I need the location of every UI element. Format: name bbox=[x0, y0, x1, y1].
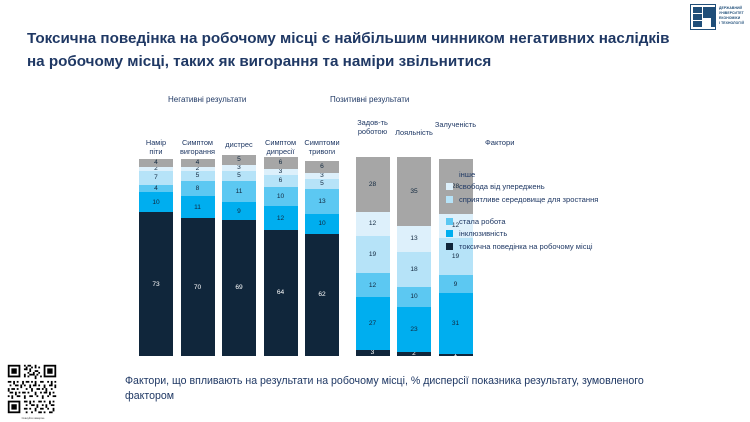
bar-segment-4[interactable]: 13 bbox=[305, 189, 339, 215]
bar-segment-6[interactable]: 69 bbox=[222, 220, 256, 356]
bar-segment-4[interactable]: 11 bbox=[222, 181, 256, 203]
qr-caption: Скануйте камерою bbox=[5, 417, 61, 420]
bar-segment-1[interactable]: 35 bbox=[397, 157, 431, 226]
bar-segment-5[interactable]: 10 bbox=[305, 214, 339, 234]
bar-segment-4[interactable]: 8 bbox=[181, 181, 215, 197]
bar-segment-6[interactable]: 2 bbox=[397, 352, 431, 356]
chart-column-1: 42741073 bbox=[139, 159, 173, 356]
bar-segment-3[interactable]: 6 bbox=[264, 175, 298, 187]
stacked-bar[interactable]: 636101264 bbox=[264, 157, 298, 356]
qr-code-block[interactable]: Скануйте камерою bbox=[5, 362, 61, 420]
bar-segment-6[interactable]: 73 bbox=[139, 212, 173, 356]
bar-segment-1[interactable]: 5 bbox=[222, 155, 256, 165]
category-label-4: Симптомдипресії bbox=[265, 138, 296, 157]
category-label-1: Намірпіти bbox=[146, 138, 166, 157]
qr-code-icon[interactable] bbox=[5, 362, 59, 416]
chart-column-5: 635131062 bbox=[305, 161, 339, 356]
chart-column-6: 28121912273 bbox=[356, 157, 390, 356]
legend-swatch-icon bbox=[446, 230, 453, 237]
legend-label: токсична поведінка на робочому місці bbox=[459, 242, 593, 251]
chart-legend: іншесвобода від упередженьсприятливе сер… bbox=[446, 168, 598, 253]
bar-segment-1[interactable]: 4 bbox=[181, 159, 215, 167]
stacked-bar[interactable]: 53511969 bbox=[222, 155, 256, 356]
chart-column-7: 35131810232 bbox=[397, 157, 431, 356]
stacked-bar[interactable]: 28121912273 bbox=[356, 157, 390, 356]
legend-label: стала робота bbox=[459, 217, 506, 226]
bar-segment-4[interactable]: 10 bbox=[264, 187, 298, 207]
bar-segment-6[interactable]: 70 bbox=[181, 218, 215, 356]
bar-segment-6[interactable]: 62 bbox=[305, 234, 339, 356]
category-label-2: Симптомвигорання bbox=[180, 138, 215, 157]
legend-item-4[interactable]: стала робота bbox=[446, 215, 598, 228]
chart-caption: Фактори, що впливають на результати на р… bbox=[125, 374, 645, 405]
stacked-bar-chart: 42741073Намірпіти42581170Симптомвигоранн… bbox=[0, 0, 750, 422]
bar-segment-3[interactable]: 18 bbox=[397, 252, 431, 287]
stacked-bar[interactable]: 42741073 bbox=[139, 159, 173, 356]
category-label-3: дистрес bbox=[225, 140, 252, 149]
stacked-bar[interactable]: 35131810232 bbox=[397, 157, 431, 356]
bar-segment-3[interactable]: 5 bbox=[181, 171, 215, 181]
legend-item-1[interactable]: інше bbox=[446, 168, 598, 181]
bar-segment-5[interactable]: 9 bbox=[222, 202, 256, 220]
bar-segment-6[interactable]: 3 bbox=[356, 350, 390, 356]
bar-segment-5[interactable]: 23 bbox=[397, 307, 431, 352]
legend-label: інклюзивність bbox=[459, 229, 507, 238]
bar-segment-4[interactable]: 12 bbox=[356, 273, 390, 297]
legend-swatch-icon bbox=[446, 196, 453, 203]
legend-item-6[interactable]: токсична поведінка на робочому місці bbox=[446, 240, 598, 253]
legend-item-3[interactable]: сприятливе середовище для зростання bbox=[446, 193, 598, 206]
bar-segment-1[interactable]: 6 bbox=[264, 157, 298, 169]
legend-swatch-icon bbox=[446, 171, 453, 178]
chart-column-4: 636101264 bbox=[264, 157, 298, 356]
bar-segment-6[interactable]: 64 bbox=[264, 230, 298, 356]
bar-segment-1[interactable]: 4 bbox=[139, 159, 173, 167]
bar-segment-5[interactable]: 10 bbox=[139, 192, 173, 212]
legend-swatch-icon bbox=[446, 243, 453, 250]
bar-segment-2[interactable]: 12 bbox=[356, 212, 390, 236]
legend-swatch-icon bbox=[446, 183, 453, 190]
bar-segment-3[interactable]: 19 bbox=[356, 236, 390, 273]
bar-segment-1[interactable]: 6 bbox=[305, 161, 339, 173]
slide: ДЕРЖАВНИЙ УНІВЕРСИТЕТ ЕКОНОМІКИ І ТЕХНОЛ… bbox=[0, 0, 750, 422]
bar-segment-3[interactable]: 7 bbox=[139, 171, 173, 185]
category-label-6: Задов-тьроботою bbox=[357, 118, 388, 137]
bar-segment-5[interactable]: 12 bbox=[264, 206, 298, 230]
legend-item-2[interactable]: свобода від упереджень bbox=[446, 181, 598, 194]
legend-label: свобода від упереджень bbox=[459, 182, 545, 191]
bar-segment-5[interactable]: 11 bbox=[181, 196, 215, 218]
category-label-5: Симптомитривоги bbox=[304, 138, 339, 157]
bar-segment-6[interactable]: 1 bbox=[439, 354, 473, 356]
bar-segment-2[interactable]: 13 bbox=[397, 226, 431, 252]
bar-segment-4[interactable]: 10 bbox=[397, 287, 431, 307]
legend-label: інше bbox=[459, 170, 475, 179]
bar-segment-3[interactable]: 5 bbox=[305, 179, 339, 189]
bar-segment-5[interactable]: 27 bbox=[356, 297, 390, 350]
category-label-7: Лояльність bbox=[395, 128, 433, 137]
legend-swatch-icon bbox=[446, 218, 453, 225]
bar-segment-5[interactable]: 31 bbox=[439, 293, 473, 354]
chart-column-3: 53511969 bbox=[222, 155, 256, 356]
legend-item-5[interactable]: інклюзивність bbox=[446, 227, 598, 240]
stacked-bar[interactable]: 635131062 bbox=[305, 161, 339, 356]
bar-segment-4[interactable]: 9 bbox=[439, 275, 473, 293]
legend-label: сприятливе середовище для зростання bbox=[459, 195, 598, 204]
chart-column-2: 42581170 bbox=[181, 159, 215, 356]
stacked-bar[interactable]: 42581170 bbox=[181, 159, 215, 356]
bar-segment-3[interactable]: 5 bbox=[222, 171, 256, 181]
category-label-8: Залученість bbox=[435, 120, 476, 129]
bar-segment-4[interactable]: 4 bbox=[139, 185, 173, 193]
bar-segment-1[interactable]: 28 bbox=[356, 157, 390, 212]
